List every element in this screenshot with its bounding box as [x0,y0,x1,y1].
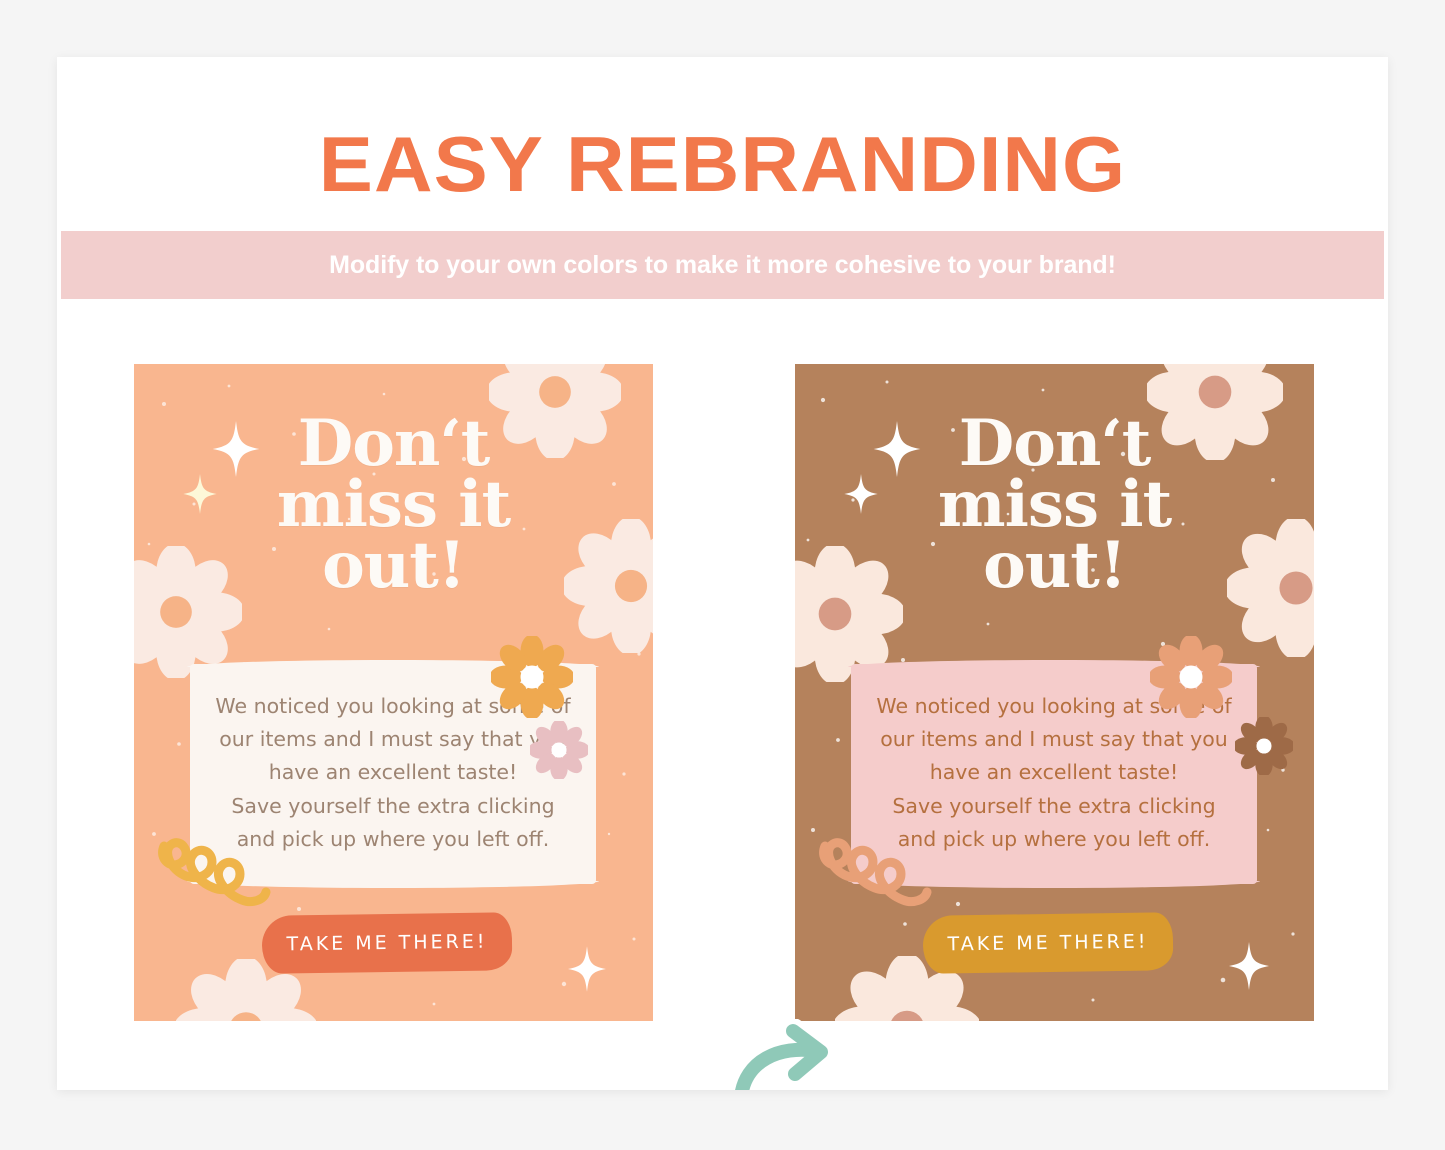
sparkle-icon [1229,942,1269,990]
headline-line-2: miss it [134,475,653,536]
headline-line-2: miss it [795,475,1314,536]
amber-flower-icon [1150,636,1232,718]
headline-line-1: Don‘t [134,414,653,475]
subtitle-text: Modify to your own colors to make it mor… [329,251,1116,280]
subtitle-banner: Modify to your own colors to make it mor… [61,231,1384,299]
spiral-squiggle-icon [156,824,276,934]
card-headline: Don‘t miss it out! [795,414,1314,596]
spiral-squiggle-icon [817,824,937,934]
sparkle-icon [568,946,606,992]
cards-row: Don‘t miss it out! We noticed you lookin… [57,364,1388,1024]
screenshot-canvas: EASY REBRANDING Modify to your own color… [0,0,1445,1150]
take-me-there-button[interactable]: Take me there! [262,912,513,973]
pink-flower-icon [1235,717,1293,775]
take-me-there-button[interactable]: Take me there! [923,912,1174,973]
page-title: EASY REBRANDING [57,119,1388,210]
card-rebranded[interactable]: Don‘t miss it out! We noticed you lookin… [795,364,1314,1021]
headline-line-3: out! [795,536,1314,597]
curved-arrow-right-icon [725,1019,845,1090]
pink-flower-icon [530,721,588,779]
headline-line-3: out! [134,536,653,597]
headline-line-1: Don‘t [795,414,1314,475]
page-sheet: EASY REBRANDING Modify to your own color… [57,57,1388,1090]
card-original[interactable]: Don‘t miss it out! We noticed you lookin… [134,364,653,1021]
amber-flower-icon [491,636,573,718]
card-headline: Don‘t miss it out! [134,414,653,596]
